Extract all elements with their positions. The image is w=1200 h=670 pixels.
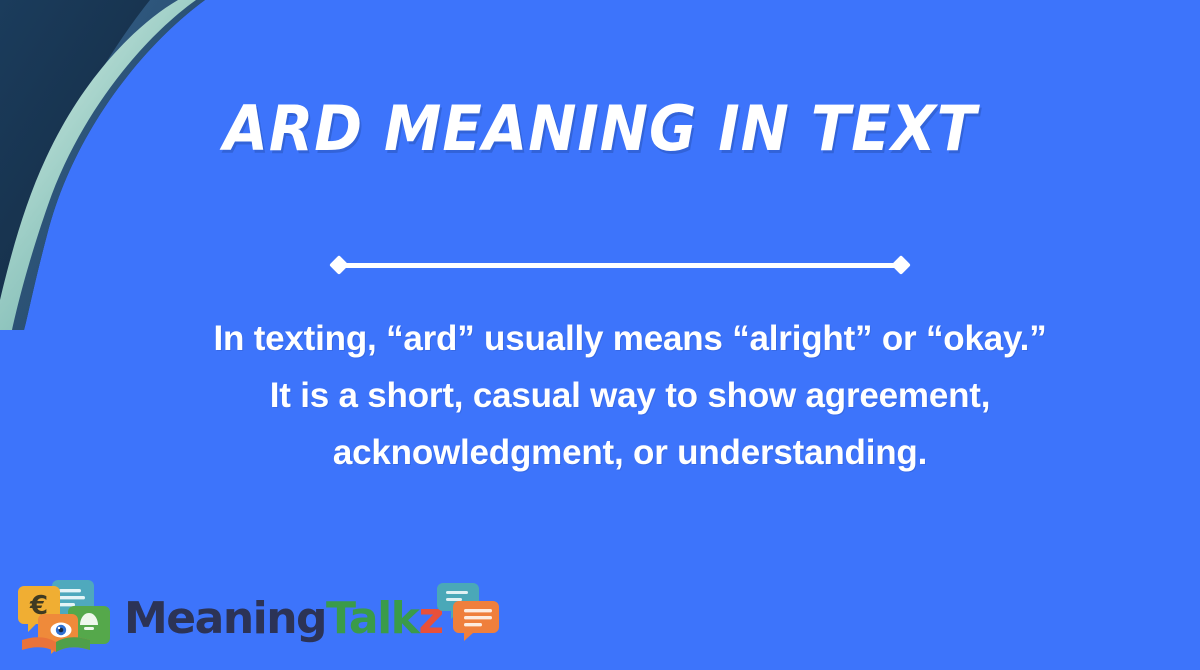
logo-word-meaning: Meaning	[124, 597, 326, 641]
definition-block: In texting, “ard” usually means “alright…	[210, 310, 1050, 481]
definition-text: In texting, “ard” usually means “alright…	[210, 310, 1050, 481]
speech-bubbles-book-icon: €	[14, 574, 120, 658]
curved-corner-swoosh-icon	[0, 0, 330, 330]
title-block: ARD MEANING IN TEXT	[0, 96, 1200, 161]
divider	[332, 257, 908, 275]
logo-wordmark: Meaning Talk z	[124, 597, 443, 641]
divider-line	[340, 263, 900, 268]
diamond-icon	[891, 255, 911, 275]
site-logo[interactable]: € Meaning Talk z	[14, 574, 501, 658]
chat-bubbles-icon	[435, 581, 501, 643]
page-title: ARD MEANING IN TEXT	[223, 96, 977, 161]
logo-word-talk: Talk	[326, 597, 418, 641]
infographic-card: ARD MEANING IN TEXT In texting, “ard” us…	[0, 0, 1200, 670]
